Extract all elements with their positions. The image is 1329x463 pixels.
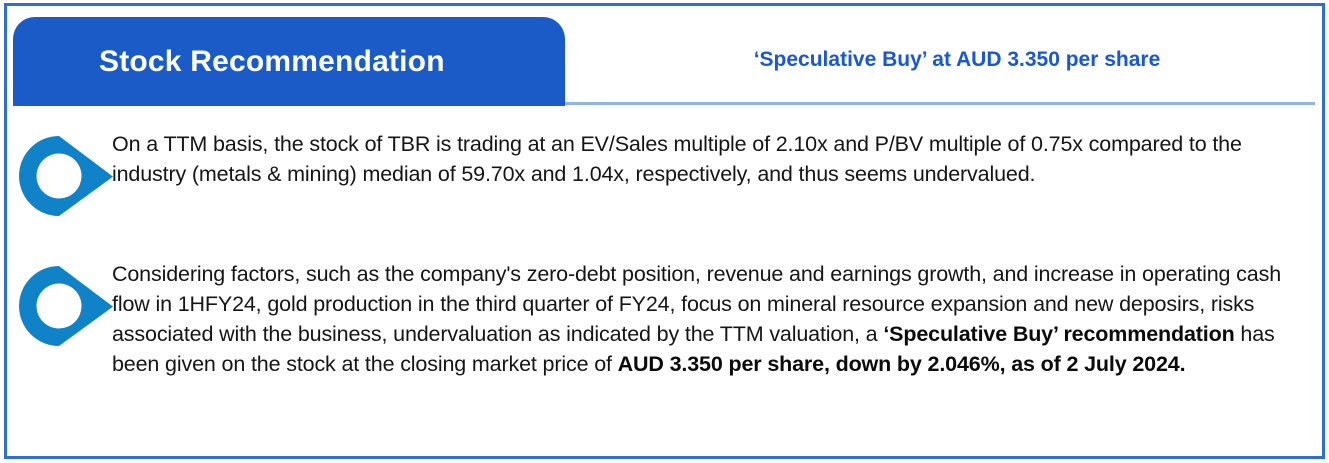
list-item-text: Considering factors, such as the company… xyxy=(112,259,1322,379)
bullet-list: On a TTM basis, the stock of TBR is trad… xyxy=(7,106,1322,379)
panel-header: Stock Recommendation ‘Speculative Buy’ a… xyxy=(7,6,1322,106)
stock-recommendation-panel: Stock Recommendation ‘Speculative Buy’ a… xyxy=(0,0,1329,463)
stock-recommendation-tab-label: Stock Recommendation xyxy=(99,45,445,79)
panel-frame: Stock Recommendation ‘Speculative Buy’ a… xyxy=(4,3,1325,459)
recommendation-subtitle: ‘Speculative Buy’ at AUD 3.350 per share xyxy=(607,48,1307,72)
stock-recommendation-tab[interactable]: Stock Recommendation xyxy=(13,17,565,106)
teardrop-pin-bullet-icon xyxy=(7,129,112,217)
teardrop-pin-bullet-icon xyxy=(7,259,112,347)
list-item: On a TTM basis, the stock of TBR is trad… xyxy=(7,129,1322,217)
list-item: Considering factors, such as the company… xyxy=(7,259,1322,379)
list-item-text: On a TTM basis, the stock of TBR is trad… xyxy=(112,129,1322,189)
header-divider xyxy=(565,102,1315,105)
